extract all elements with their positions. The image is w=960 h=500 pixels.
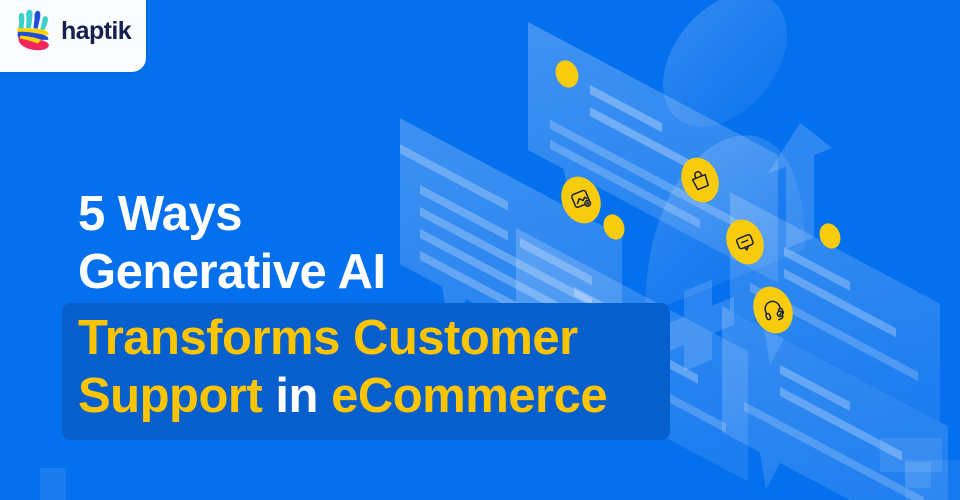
chat-bubble-bottom [722,306,948,500]
headline-highlight-group: Transforms Customer Support in eCommerce [78,310,698,426]
brand-wordmark: haptik [61,19,131,44]
decor-square-bottom-right-2 [905,460,960,500]
banner-canvas: haptik 5 Ways Generative AI Transforms C… [0,0,960,500]
headline-group: 5 Ways Generative AI [78,186,718,302]
headline-line-1: 5 Ways [78,186,718,244]
decor-square-bottom-right-1 [880,438,942,472]
arrow-up-icon [768,110,832,256]
headline-line-2: Generative AI [78,244,718,302]
badge-dot-icon-3 [816,220,844,252]
badge-chat-icon [720,214,771,270]
brand-logo-card[interactable]: haptik [0,0,146,72]
decor-square-bottom-right-3 [905,462,931,488]
chat-bubble-right [730,192,940,456]
badge-dot-icon-1 [552,57,583,91]
decor-square-bottom-left [40,468,66,500]
headline-line-4-ecommerce: eCommerce [331,369,607,423]
headline-line-3: Transforms Customer [78,310,698,368]
badge-headset-support-icon [746,281,799,340]
headline-line-4-support: Support [78,369,262,423]
hand-logo-icon [14,9,54,51]
headline-line-4: Support in eCommerce [78,368,698,426]
headline-line-4-in: in [275,369,318,423]
